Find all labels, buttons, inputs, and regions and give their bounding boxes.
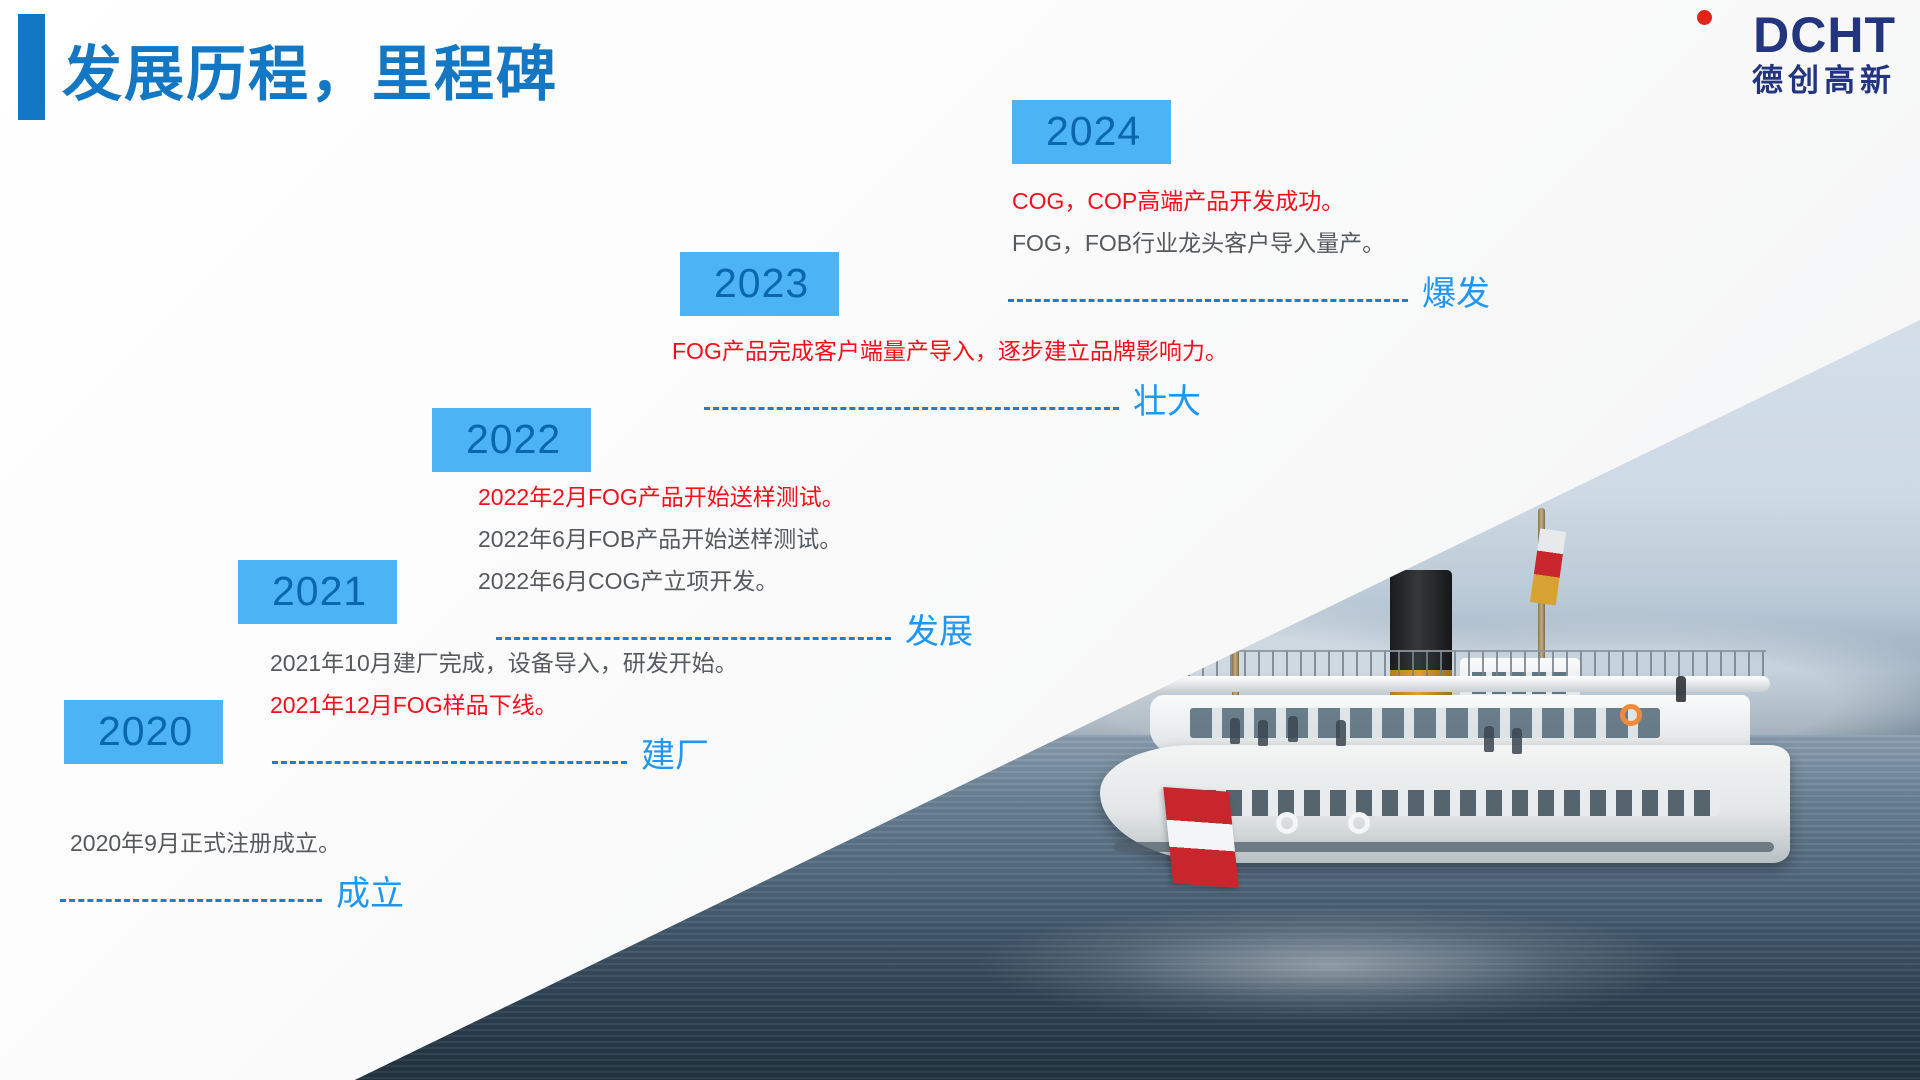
logo-wordmark: DCHT bbox=[1686, 8, 1896, 62]
title-accent-bar bbox=[18, 14, 45, 120]
boat-passenger bbox=[1258, 720, 1268, 746]
company-logo: DCHT 德创高新 bbox=[1686, 8, 1896, 106]
boat-lower-windows bbox=[1200, 790, 1720, 816]
boat-passenger bbox=[1230, 718, 1240, 744]
milestone-dash-row-2023: 壮大 bbox=[672, 374, 1228, 410]
milestone-line: 2020年9月正式注册成立。 bbox=[70, 822, 404, 864]
phase-label-2021: 建厂 bbox=[641, 738, 709, 774]
dashed-connector bbox=[60, 899, 322, 902]
milestone-lines-2020: 2020年9月正式注册成立。 bbox=[52, 822, 404, 864]
milestone-2020[interactable]: 2020 2020年9月正式注册成立。 成立 bbox=[52, 700, 404, 902]
logo-mark-text: DCHT bbox=[1753, 7, 1896, 63]
year-badge-2023: 2023 bbox=[680, 252, 839, 316]
milestone-line: FOG产品完成客户端量产导入，逐步建立品牌影响力。 bbox=[672, 330, 1228, 372]
year-badge-wrap-2023: 2023 bbox=[672, 252, 1228, 316]
boat-passenger bbox=[1336, 720, 1346, 746]
life-ring-icon bbox=[1276, 812, 1298, 834]
milestone-dash-row-2020: 成立 bbox=[52, 866, 404, 902]
boat-passenger bbox=[1512, 728, 1522, 754]
year-badge-2021: 2021 bbox=[238, 560, 397, 624]
life-ring-icon bbox=[1348, 812, 1370, 834]
phase-label-2023: 壮大 bbox=[1133, 384, 1201, 420]
boat-upper-railing bbox=[1146, 650, 1766, 678]
boat-passenger bbox=[1288, 716, 1298, 742]
year-badge-wrap-2021: 2021 bbox=[226, 560, 738, 624]
page-title: 发展历程，里程碑 bbox=[62, 26, 558, 113]
milestone-line: 2022年6月FOB产品开始送样测试。 bbox=[478, 518, 973, 560]
swiss-flag bbox=[1163, 787, 1239, 888]
milestone-line: COG，COP高端产品开发成功。 bbox=[1012, 180, 1490, 222]
year-badge-2024: 2024 bbox=[1012, 100, 1171, 164]
slide-canvas: 发展历程，里程碑 DCHT 德创高新 2024 COG，COP高端产品开发成功。… bbox=[0, 0, 1920, 1080]
year-badge-wrap-2020: 2020 bbox=[52, 700, 404, 764]
year-badge-wrap-2022: 2022 bbox=[420, 408, 973, 472]
year-badge-2022: 2022 bbox=[432, 408, 591, 472]
logo-chinese-name: 德创高新 bbox=[1686, 62, 1896, 100]
life-ring-icon bbox=[1620, 704, 1642, 726]
milestone-lines-2023: FOG产品完成客户端量产导入，逐步建立品牌影响力。 bbox=[672, 330, 1228, 372]
phase-label-2020: 成立 bbox=[336, 876, 404, 912]
boat-signal-flag bbox=[1530, 529, 1566, 606]
year-badge-2020: 2020 bbox=[64, 700, 223, 764]
year-badge-wrap-2024: 2024 bbox=[1000, 100, 1490, 164]
phase-label-2024: 爆发 bbox=[1422, 276, 1490, 312]
logo-dot-icon bbox=[1697, 10, 1712, 25]
milestone-2023[interactable]: 2023 FOG产品完成客户端量产导入，逐步建立品牌影响力。 壮大 bbox=[672, 252, 1228, 410]
phase-label-2022: 发展 bbox=[905, 614, 973, 650]
milestone-line: 2022年2月FOG产品开始送样测试。 bbox=[478, 476, 973, 518]
steamboat-illustration bbox=[1080, 490, 1800, 960]
boat-passenger bbox=[1484, 726, 1494, 752]
milestone-line: 2021年10月建厂完成，设备导入，研发开始。 bbox=[270, 642, 738, 684]
boat-captain bbox=[1676, 676, 1686, 702]
